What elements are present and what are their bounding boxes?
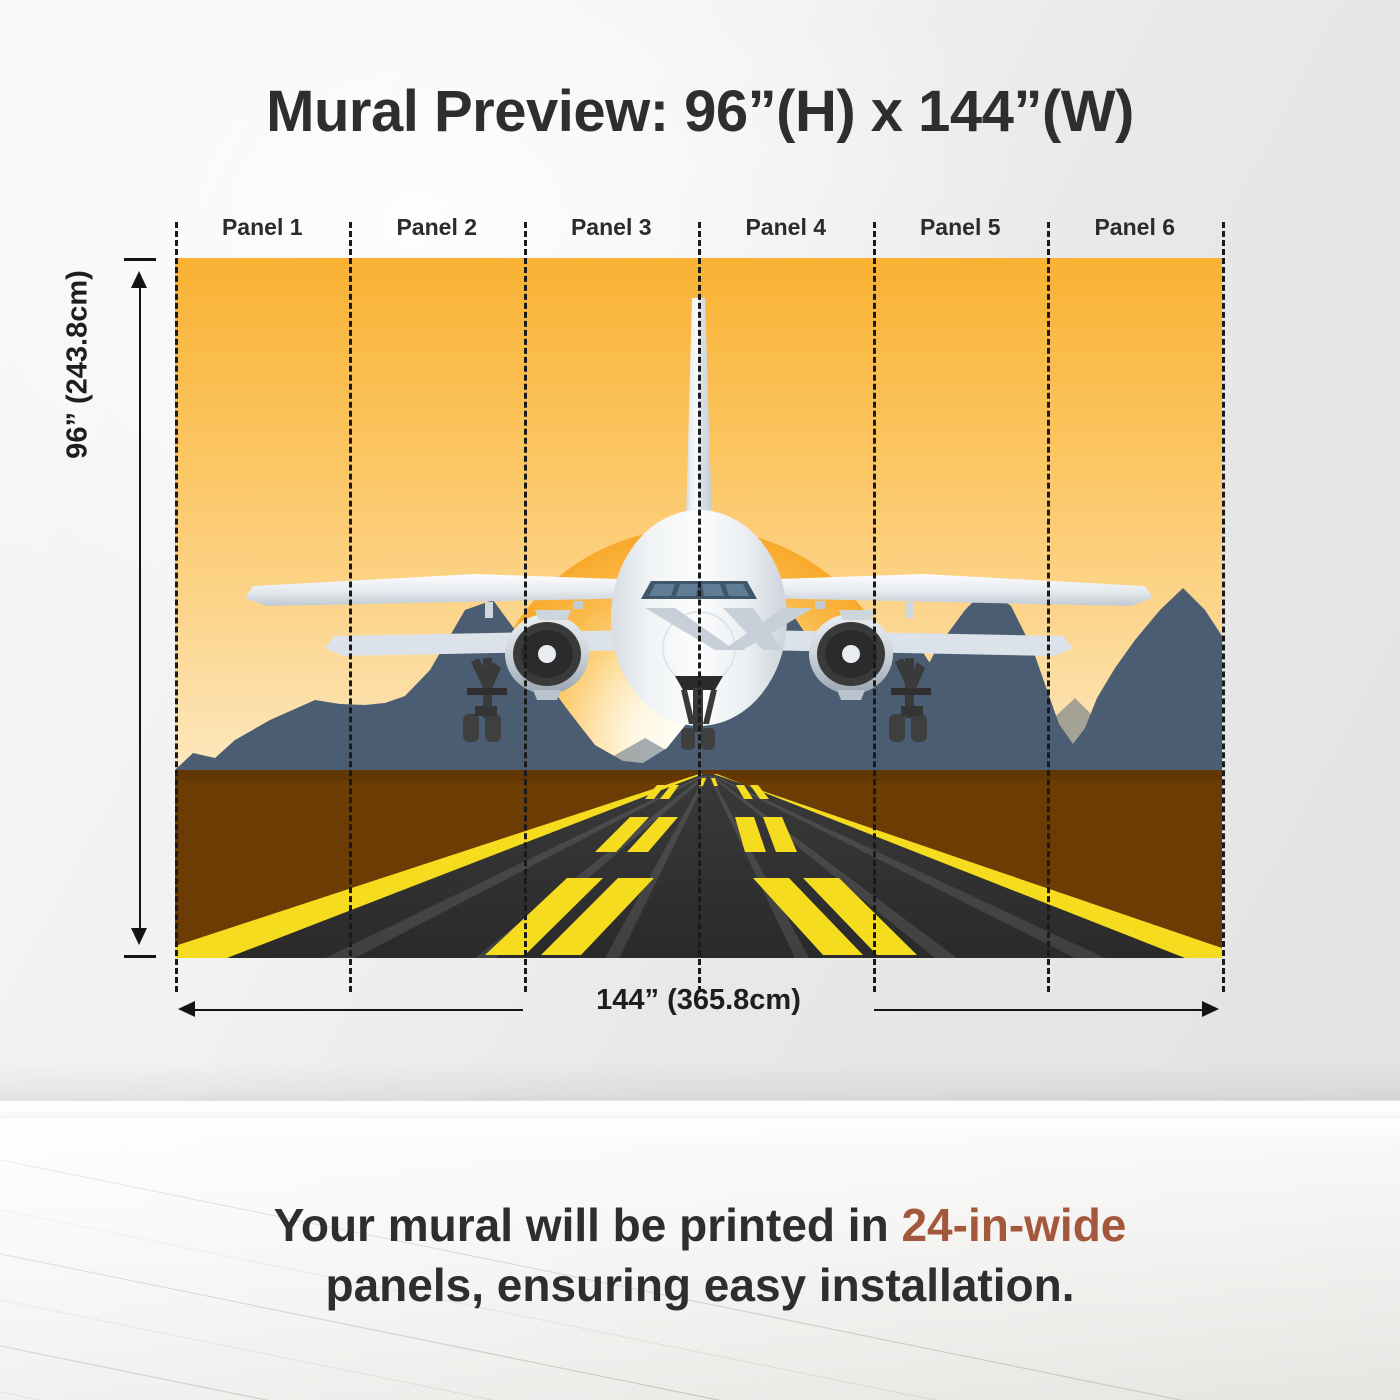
panel-divider-2 [524,222,527,992]
panel-divider-1 [349,222,352,992]
panel-label-5: Panel 5 [873,214,1048,252]
wing-fence-right [905,602,913,618]
width-dimension: 144” (365.8cm) [175,1008,1222,1012]
height-dimension [138,258,142,958]
panel-label-6: Panel 6 [1048,214,1223,252]
panel-divider-4 [873,222,876,992]
panel-divider-5 [1047,222,1050,992]
height-line [139,276,141,940]
height-arrow-up [131,271,147,288]
nose-wheel-left [681,728,695,750]
caption-line-1: Your mural will be printed in 24-in-wide [0,1196,1400,1256]
floor-highlight [0,1118,1400,1144]
panel-label-3: Panel 3 [524,214,699,252]
engine-right-hub [842,645,860,663]
footer-caption: Your mural will be printed in 24-in-wide… [0,1196,1400,1316]
mural-preview-screenshot: Mural Preview: 96”(H) x 144”(W) Panel 1 … [0,0,1400,1400]
panel-divider-3 [698,222,701,992]
panel-label-2: Panel 2 [350,214,525,252]
height-arrow-down [131,928,147,945]
panel-divider-edge-left [175,222,178,992]
nose-wheel-right [701,728,715,750]
panel-label-4: Panel 4 [699,214,874,252]
height-cap-top [124,258,156,261]
panel-label-1: Panel 1 [175,214,350,252]
engine-left-hub [538,645,556,663]
width-label: 144” (365.8cm) [175,984,1222,1017]
caption-line-2: panels, ensuring easy installation. [0,1256,1400,1316]
page-title: Mural Preview: 96”(H) x 144”(W) [0,78,1400,145]
caption-line-1-text: Your mural will be printed in [274,1199,902,1251]
height-label: 96” (243.8cm) [62,215,95,515]
height-cap-bottom [124,955,156,958]
wing-fence-left [485,602,493,618]
caption-highlight: 24-in-wide [901,1199,1126,1251]
panel-divider-edge-right [1222,222,1225,992]
